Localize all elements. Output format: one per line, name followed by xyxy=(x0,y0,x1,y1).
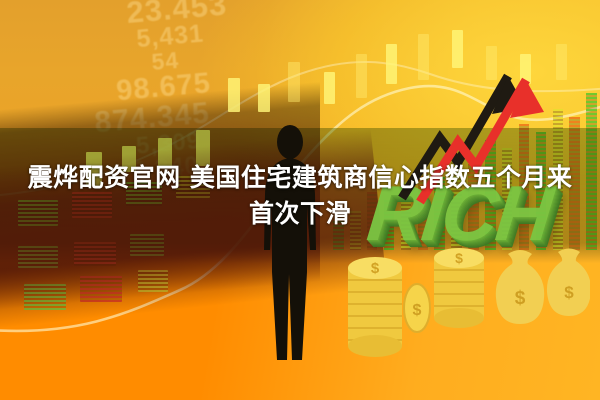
money-bag-icon: $ xyxy=(496,250,544,324)
headline-line-2: 首次下滑 xyxy=(249,199,351,228)
headline-line-1: 震烨配资官网 美国住宅建筑商信心指数五个月来 xyxy=(28,163,573,192)
money-bag-icon: $ xyxy=(547,249,590,317)
coin-stack-icon: $ xyxy=(434,248,484,328)
headline-text: 震烨配资官网 美国住宅建筑商信心指数五个月来 首次下滑 xyxy=(0,160,600,231)
svg-text:$: $ xyxy=(455,250,463,266)
banner-image: 23.453 5,431 54 98.675 874.345 5,309 2,3… xyxy=(0,0,600,400)
svg-text:$: $ xyxy=(515,288,526,309)
svg-text:$: $ xyxy=(413,302,422,319)
coin-stack-icon: $ xyxy=(348,257,402,357)
svg-text:$: $ xyxy=(564,283,574,302)
money-group: $ $ $ $ $ xyxy=(330,236,590,376)
coin-icon: $ xyxy=(404,284,430,332)
svg-text:$: $ xyxy=(371,260,380,277)
